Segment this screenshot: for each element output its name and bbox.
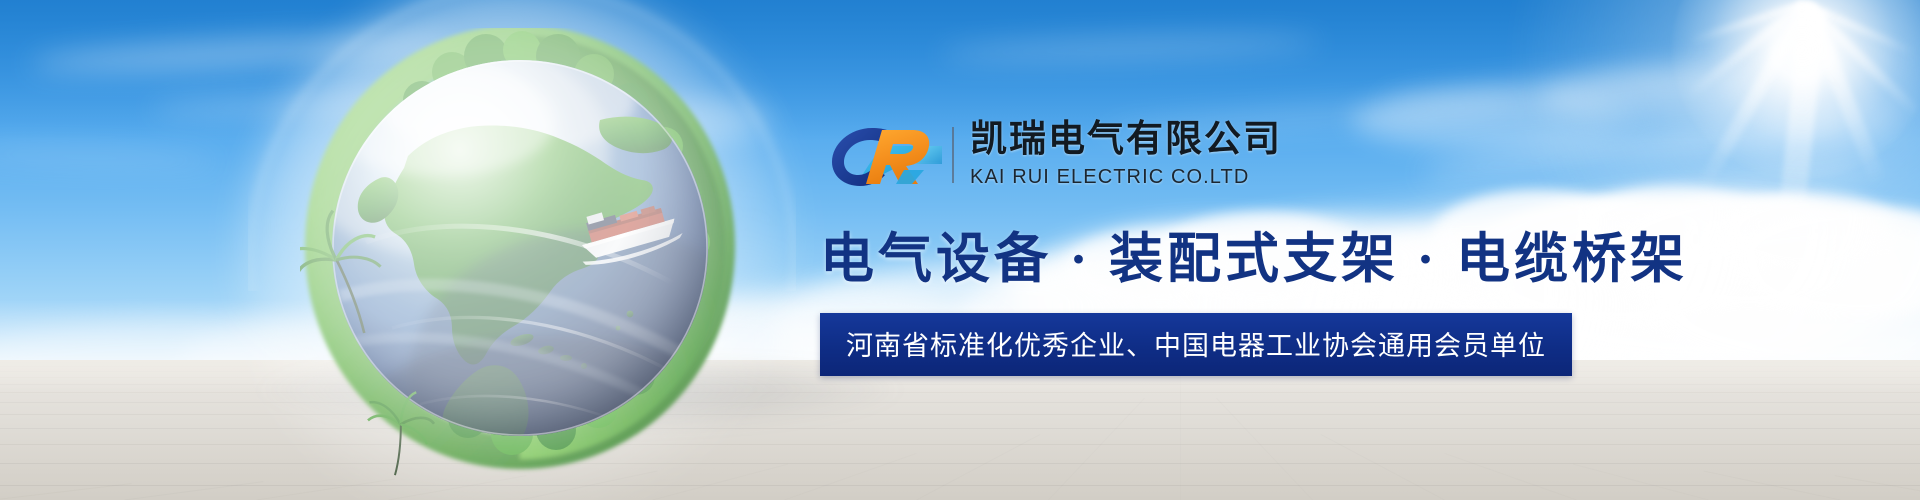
pavement-seam	[1444, 453, 1576, 500]
pavement-seam	[0, 485, 1920, 486]
green-earth-globe	[300, 28, 740, 478]
cr-monogram-logo[interactable]	[820, 120, 946, 190]
pavement-seam	[0, 414, 1920, 415]
pavement-seam	[0, 384, 1920, 385]
banner-content: 凯瑞电气有限公司 KAI RUI ELECTRIC CO.LTD 电气设备 · …	[820, 118, 1580, 376]
tiled-pavement	[0, 360, 1920, 500]
pavement-seam	[1835, 475, 1920, 500]
pavement-seam	[124, 481, 263, 500]
pavement-seam	[0, 392, 1920, 393]
pavement-seam	[1180, 360, 1181, 500]
company-name-cn: 凯瑞电气有限公司	[970, 119, 1282, 160]
pavement-seam	[256, 479, 395, 500]
page-title: 电气设备 · 装配式支架 · 电缆桥架	[820, 214, 1580, 293]
hero-banner: 凯瑞电气有限公司 KAI RUI ELECTRIC CO.LTD 电气设备 · …	[0, 0, 1920, 500]
globe-svg	[300, 28, 740, 478]
pavement-seam	[0, 428, 1920, 429]
pavement-seam	[0, 402, 1920, 403]
company-name-en: KAI RUI ELECTRIC CO.LTD	[970, 164, 1282, 191]
pavement-seam	[0, 444, 1920, 445]
brand-text: 凯瑞电气有限公司 KAI RUI ELECTRIC CO.LTD	[970, 119, 1282, 191]
pavement-seam	[784, 453, 916, 500]
pavement-seam	[1573, 464, 1709, 500]
pavement-seam	[388, 475, 526, 500]
credentials-ribbon: 河南省标准化优秀企业、中国电器工业协会通用会员单位	[820, 313, 1572, 376]
brand-lockup[interactable]: 凯瑞电气有限公司 KAI RUI ELECTRIC CO.LTD	[820, 118, 1580, 192]
pavement-seam	[0, 377, 1920, 378]
logo-divider	[952, 127, 954, 183]
globe-shading	[332, 60, 708, 436]
pavement-seam	[0, 463, 1920, 464]
